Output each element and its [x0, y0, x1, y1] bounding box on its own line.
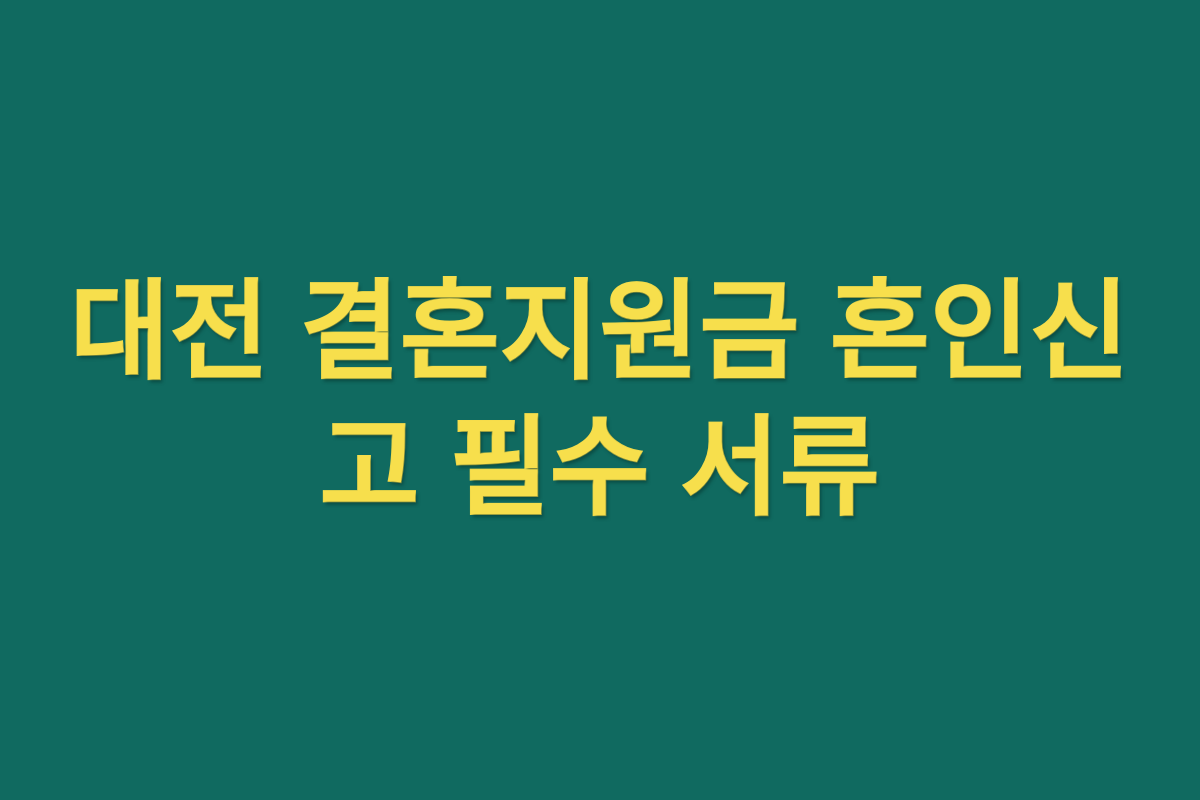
page-title-line-2: 고 필수 서류 [60, 400, 1140, 536]
page-title-line-1: 대전 결혼지원금 혼인신 [60, 264, 1140, 400]
page-title: 대전 결혼지원금 혼인신 고 필수 서류 [0, 0, 1200, 800]
title-card: 대전 결혼지원금 혼인신 고 필수 서류 [0, 0, 1200, 800]
